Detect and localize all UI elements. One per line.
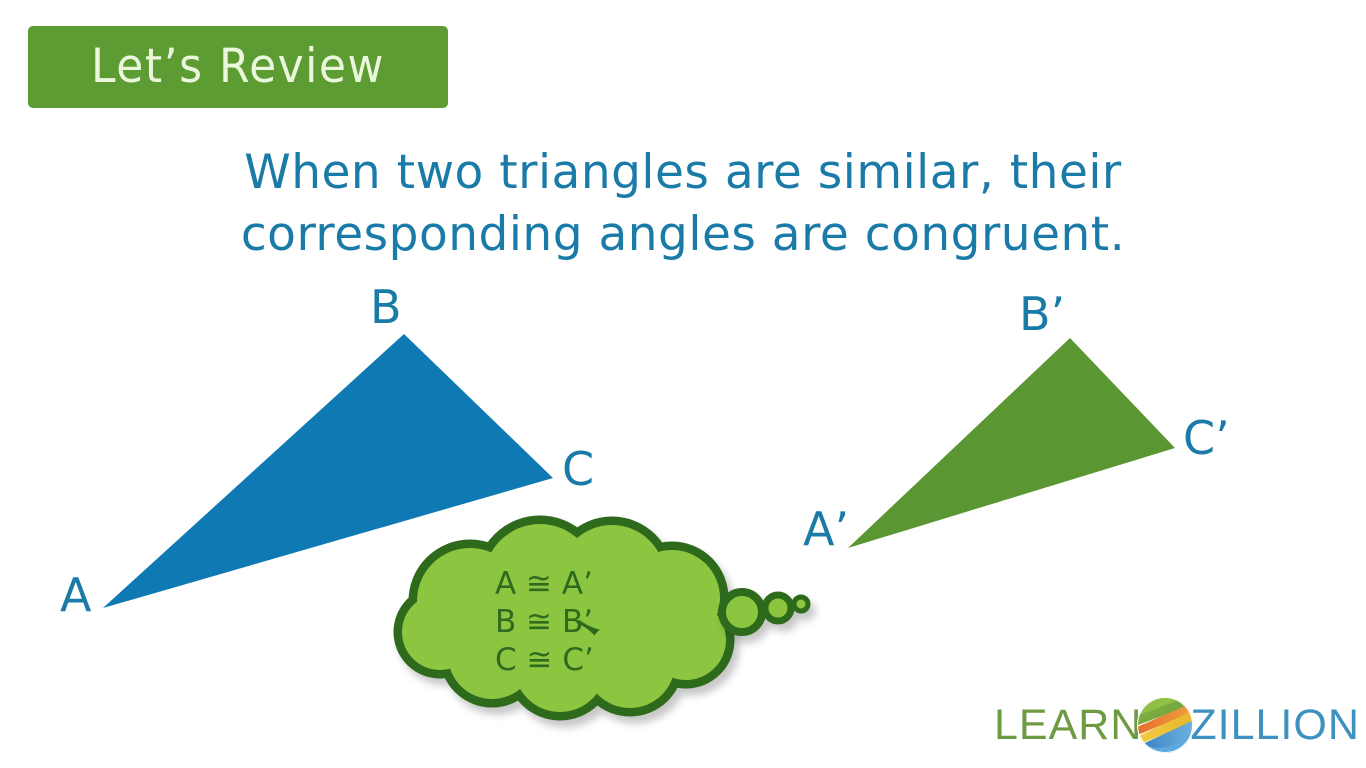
vertex-label-c: C <box>562 446 594 492</box>
vertex-label-b-prime: B’ <box>1019 291 1065 337</box>
congruence-line-3: C ≅ C’ <box>495 641 635 679</box>
figure-layer <box>0 0 1366 768</box>
learnzillion-logo: LEARN ZILLION <box>994 697 1360 753</box>
triangle-a-prime-b-prime-c-prime <box>848 338 1175 548</box>
congruence-line-1: A ≅ A’ <box>495 565 635 603</box>
vertex-label-c-prime: C’ <box>1183 415 1230 461</box>
vertex-label-a: A <box>60 572 91 618</box>
vertex-label-a-prime: A’ <box>803 506 849 552</box>
logo-word-learn: LEARN <box>994 704 1142 747</box>
vertex-label-b: B <box>370 284 402 330</box>
congruence-line-2: B ≅ B’ <box>495 603 635 641</box>
thought-bubble-text: A ≅ A’ B ≅ B’ C ≅ C’ <box>495 565 635 679</box>
logo-word-zillion: ZILLION <box>1190 704 1360 747</box>
thought-bubble-dots <box>722 592 808 632</box>
slide-canvas: Let’s Review When two triangles are simi… <box>0 0 1366 768</box>
globe-icon <box>1136 696 1194 754</box>
